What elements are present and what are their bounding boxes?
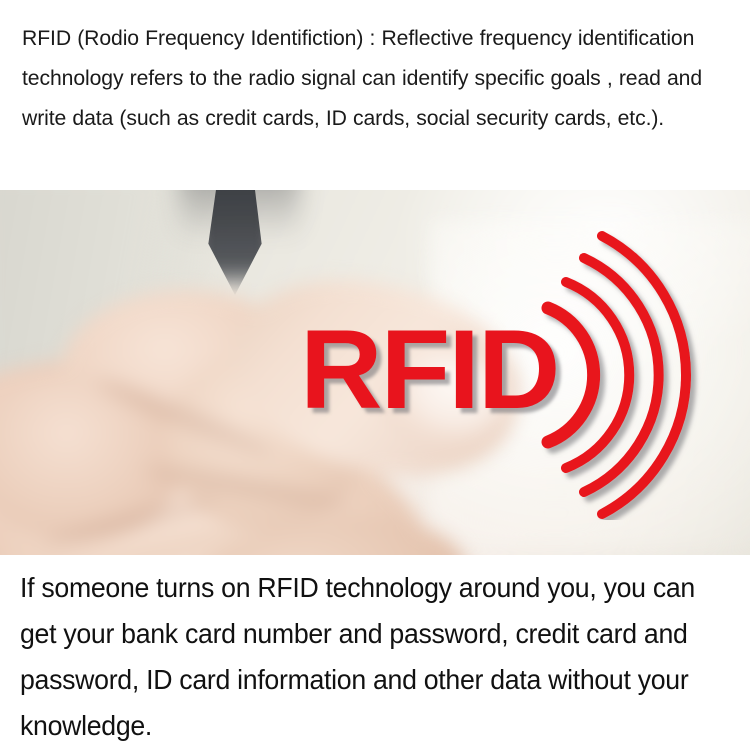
product-description-page: RFID (Rodio Frequency Identifiction) : R… xyxy=(0,0,750,750)
bottom-description-block: If someone turns on RFID technology arou… xyxy=(0,555,750,750)
rfid-hero-photo: RFID xyxy=(0,190,750,555)
photo-hand xyxy=(0,230,500,555)
bottom-description-text: If someone turns on RFID technology arou… xyxy=(20,565,699,749)
top-description-text: RFID (Rodio Frequency Identifiction) : R… xyxy=(22,18,713,138)
top-description-block: RFID (Rodio Frequency Identifiction) : R… xyxy=(0,0,750,190)
